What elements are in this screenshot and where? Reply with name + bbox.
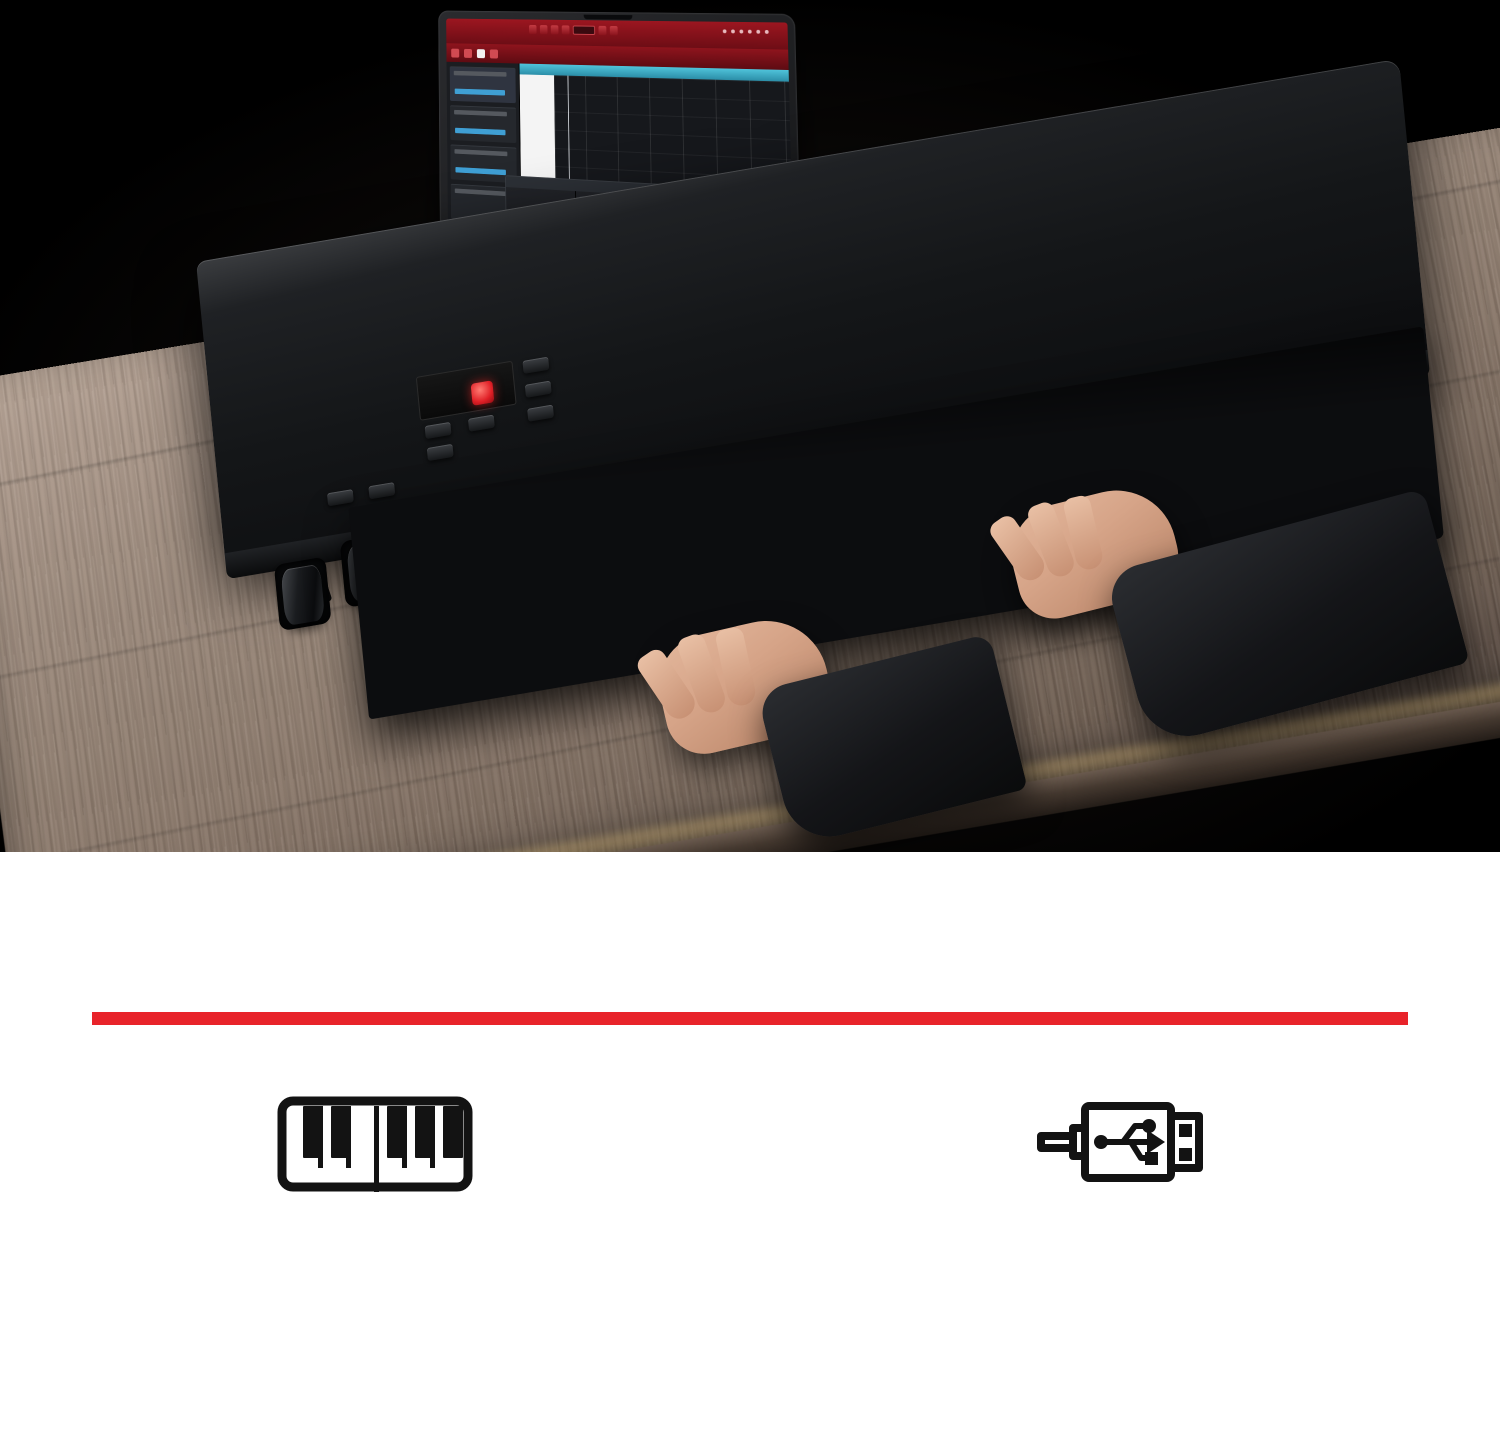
hero-product-photo bbox=[0, 0, 1500, 852]
controller-record-button[interactable] bbox=[471, 380, 495, 406]
accent-divider bbox=[92, 1012, 1408, 1025]
controller-button[interactable] bbox=[427, 444, 454, 461]
drum-pad-grid[interactable] bbox=[1091, 120, 1294, 248]
laptop-camera-notch bbox=[584, 15, 633, 20]
daw-transport-controls[interactable] bbox=[529, 25, 618, 35]
fader-bank[interactable] bbox=[446, 210, 754, 380]
rotary-knob-bank[interactable] bbox=[751, 208, 966, 329]
usb-plug-icon bbox=[1027, 1082, 1223, 1192]
controller-button[interactable] bbox=[527, 404, 554, 421]
octave-down-button[interactable] bbox=[327, 489, 354, 506]
controller-button[interactable] bbox=[425, 422, 452, 439]
product-feature-page bbox=[0, 0, 1500, 1440]
octave-up-button[interactable] bbox=[368, 482, 395, 499]
feature-usb bbox=[750, 1082, 1500, 1246]
feature-keys bbox=[0, 1082, 750, 1246]
controller-button[interactable] bbox=[468, 415, 495, 432]
daw-status-leds bbox=[723, 29, 769, 33]
pitch-wheel[interactable] bbox=[280, 564, 325, 627]
feature-section bbox=[0, 852, 1500, 1440]
feature-columns bbox=[0, 1082, 1500, 1246]
piano-keys-icon bbox=[277, 1082, 473, 1192]
controller-button[interactable] bbox=[525, 381, 552, 398]
